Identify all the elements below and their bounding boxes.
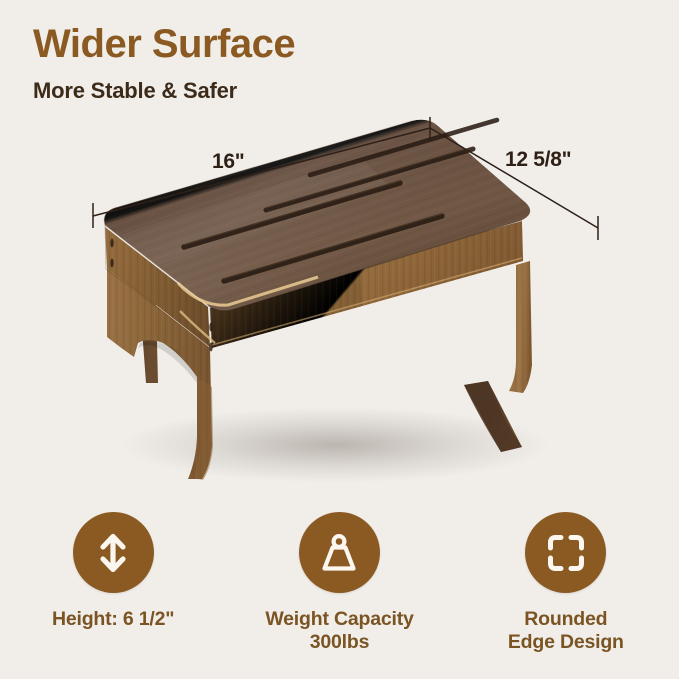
feature-rounded-edge-icon-circle bbox=[525, 512, 606, 593]
feature-weight: Weight Capacity 300lbs bbox=[232, 512, 447, 654]
infographic-canvas: Wider Surface More Stable & Safer bbox=[0, 0, 679, 679]
feature-rounded-edge: Rounded Edge Design bbox=[458, 512, 673, 654]
feature-weight-icon-circle bbox=[299, 512, 380, 593]
product-photo bbox=[60, 115, 620, 510]
front-right-leg bbox=[509, 261, 532, 393]
feature-height: Height: 6 1/2" bbox=[6, 512, 221, 631]
rounded-corner-frame-icon bbox=[541, 528, 591, 578]
page-subtitle: More Stable & Safer bbox=[33, 78, 237, 104]
feature-height-label: Height: 6 1/2" bbox=[52, 608, 174, 631]
width-dimension-label: 16" bbox=[212, 150, 244, 174]
feature-list: Height: 6 1/2" Weight Capacity 300lbs bbox=[0, 512, 679, 679]
height-arrow-icon bbox=[88, 528, 138, 578]
feature-rounded-edge-label: Rounded Edge Design bbox=[508, 608, 624, 654]
feature-weight-label: Weight Capacity 300lbs bbox=[265, 608, 413, 654]
feature-height-icon-circle bbox=[73, 512, 154, 593]
step-stool-illustration bbox=[60, 115, 620, 510]
weight-icon bbox=[314, 528, 364, 578]
depth-dimension-label: 12 5/8" bbox=[505, 148, 571, 172]
page-title: Wider Surface bbox=[33, 22, 295, 66]
